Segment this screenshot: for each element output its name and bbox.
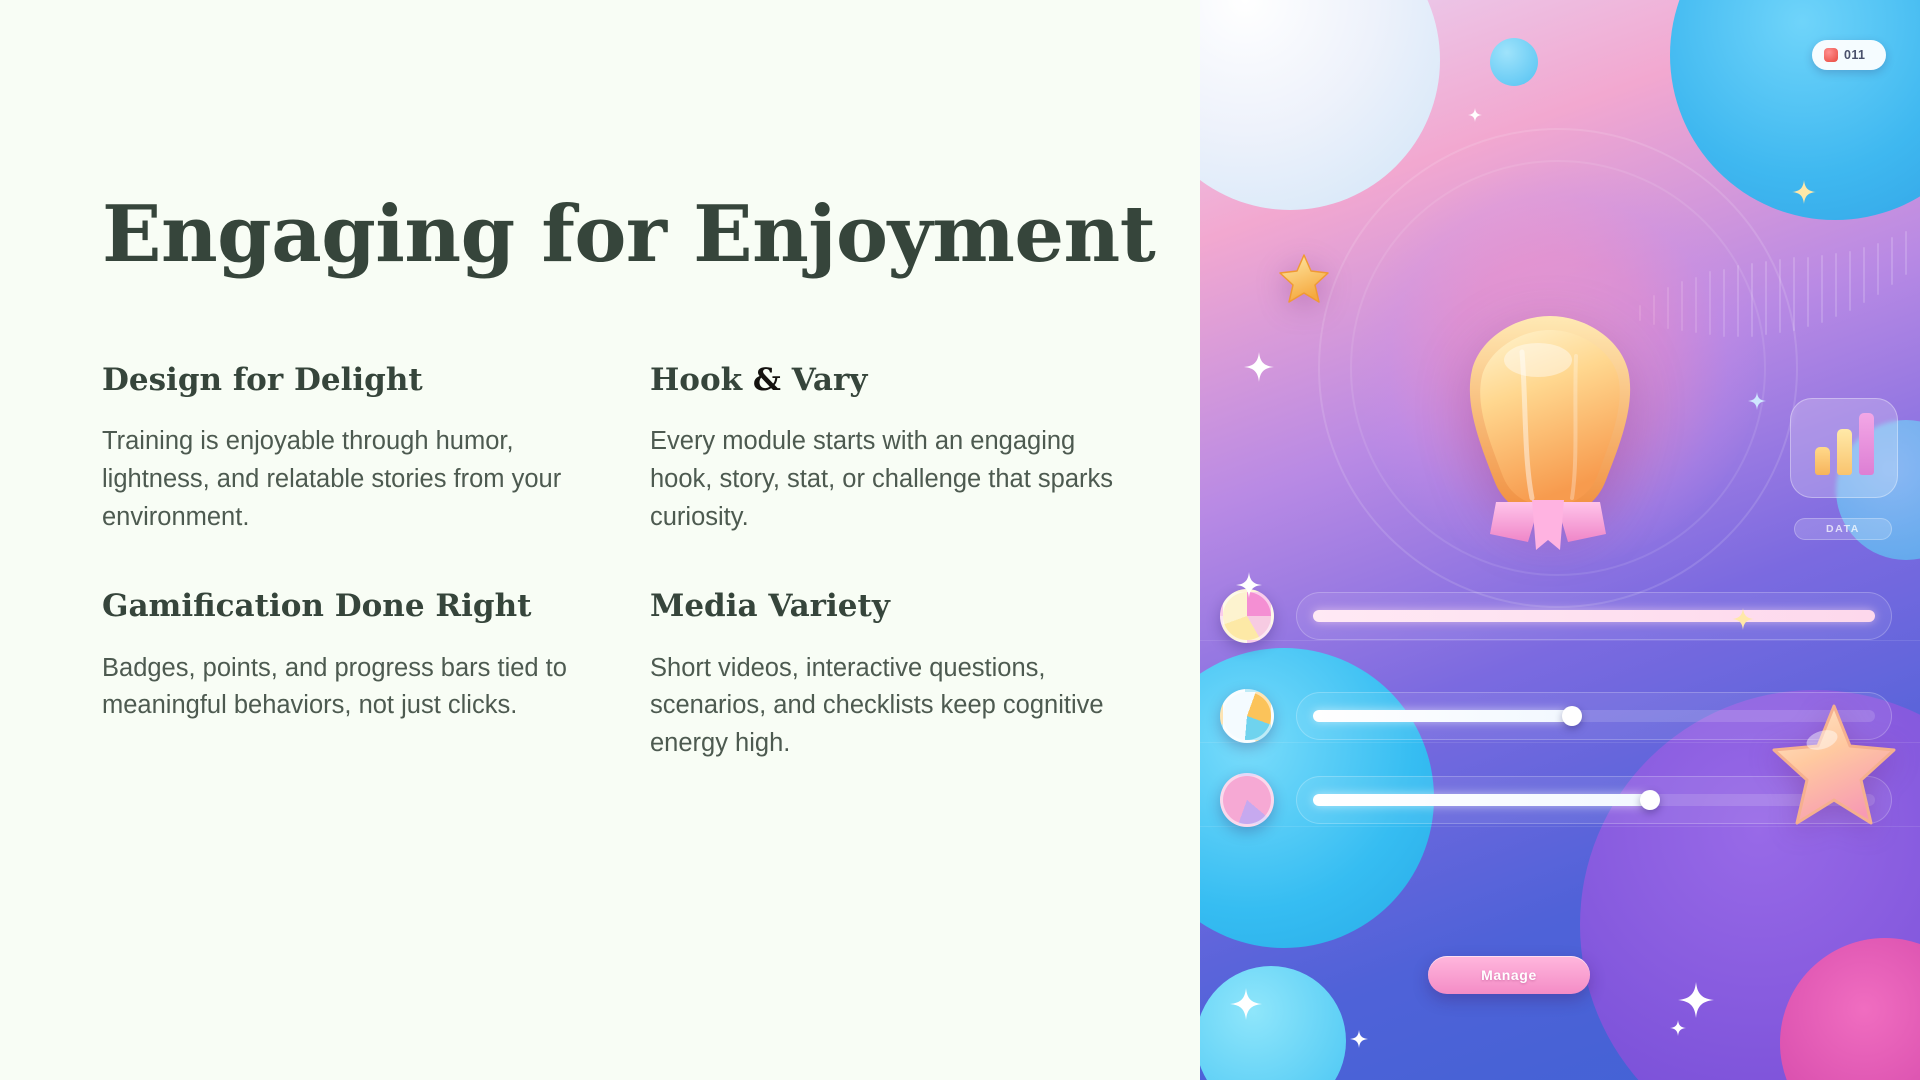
slide-root: Engaging for Enjoyment Design for Deligh…	[0, 0, 1920, 1080]
decorative-sphere-white	[1200, 0, 1440, 210]
points-grid: Design for Delight Training is enjoyable…	[102, 362, 1142, 763]
sparkle-icon	[1792, 180, 1816, 204]
sparkle-icon	[1670, 1020, 1686, 1036]
point-heading-design-for-delight: Design for Delight	[102, 362, 594, 399]
point-body-design-for-delight: Training is enjoyable through humor, lig…	[102, 423, 572, 536]
heading-text-pre: Hook	[650, 362, 753, 398]
pie-chart-icon	[1220, 773, 1274, 827]
points-column-right: Hook & Vary Every module starts with an …	[650, 362, 1142, 763]
star-icon	[1770, 700, 1898, 828]
manage-button[interactable]: Manage	[1428, 956, 1590, 994]
sparkle-icon	[1230, 988, 1262, 1020]
heading-text-post: Vary	[781, 362, 867, 398]
sparkle-icon	[1244, 352, 1274, 382]
sparkle-icon	[1350, 1030, 1368, 1048]
decorative-bubble-small	[1490, 38, 1538, 86]
progress-knob[interactable]	[1640, 790, 1660, 810]
sparkle-icon	[1732, 608, 1754, 630]
progress-fill	[1313, 710, 1572, 722]
sparkle-icon	[1748, 392, 1766, 410]
pie-chart-icon	[1220, 689, 1274, 743]
ampersand-glyph: &	[753, 362, 781, 398]
point-body-media-variety: Short videos, interactive questions, sce…	[650, 650, 1120, 763]
progress-fill	[1313, 610, 1875, 622]
progress-row[interactable]	[1220, 588, 1892, 644]
chart-bar	[1815, 447, 1830, 475]
chart-bar	[1859, 413, 1874, 475]
progress-rail	[1313, 610, 1875, 622]
sparkle-icon	[1236, 572, 1262, 598]
illustration-panel: 011 DATA	[1200, 0, 1920, 1080]
chart-label-text: DATA	[1826, 523, 1860, 535]
progress-knob[interactable]	[1562, 706, 1582, 726]
points-column-left: Design for Delight Training is enjoyable…	[102, 362, 594, 763]
content-pane: Engaging for Enjoyment Design for Deligh…	[0, 0, 1200, 1080]
page-title: Engaging for Enjoyment	[102, 196, 1200, 274]
badge-ribbon-icon	[1488, 500, 1608, 562]
point-body-gamification-done-right: Badges, points, and progress bars tied t…	[102, 650, 572, 725]
star-icon	[1278, 252, 1330, 304]
point-heading-gamification-done-right: Gamification Done Right	[102, 588, 594, 625]
point-heading-hook-and-vary: Hook & Vary	[650, 362, 1142, 399]
progress-fill	[1313, 794, 1650, 806]
progress-track[interactable]	[1296, 592, 1892, 640]
gift-icon	[1824, 48, 1838, 62]
sparkle-icon	[1678, 982, 1714, 1018]
bar-chart-icon[interactable]	[1790, 398, 1898, 498]
decorative-bubble-bottom-left	[1200, 966, 1346, 1080]
chart-bar	[1837, 429, 1852, 475]
point-heading-media-variety: Media Variety	[650, 588, 1142, 625]
notification-pill-badge[interactable]: 011	[1812, 40, 1886, 70]
manage-button-label: Manage	[1481, 967, 1537, 983]
point-body-hook-and-vary: Every module starts with an engaging hoo…	[650, 423, 1120, 536]
chart-label-chip: DATA	[1794, 518, 1892, 540]
sparkle-icon	[1468, 108, 1482, 122]
pill-badge-label: 011	[1844, 49, 1865, 62]
award-shield-icon	[1460, 312, 1640, 527]
